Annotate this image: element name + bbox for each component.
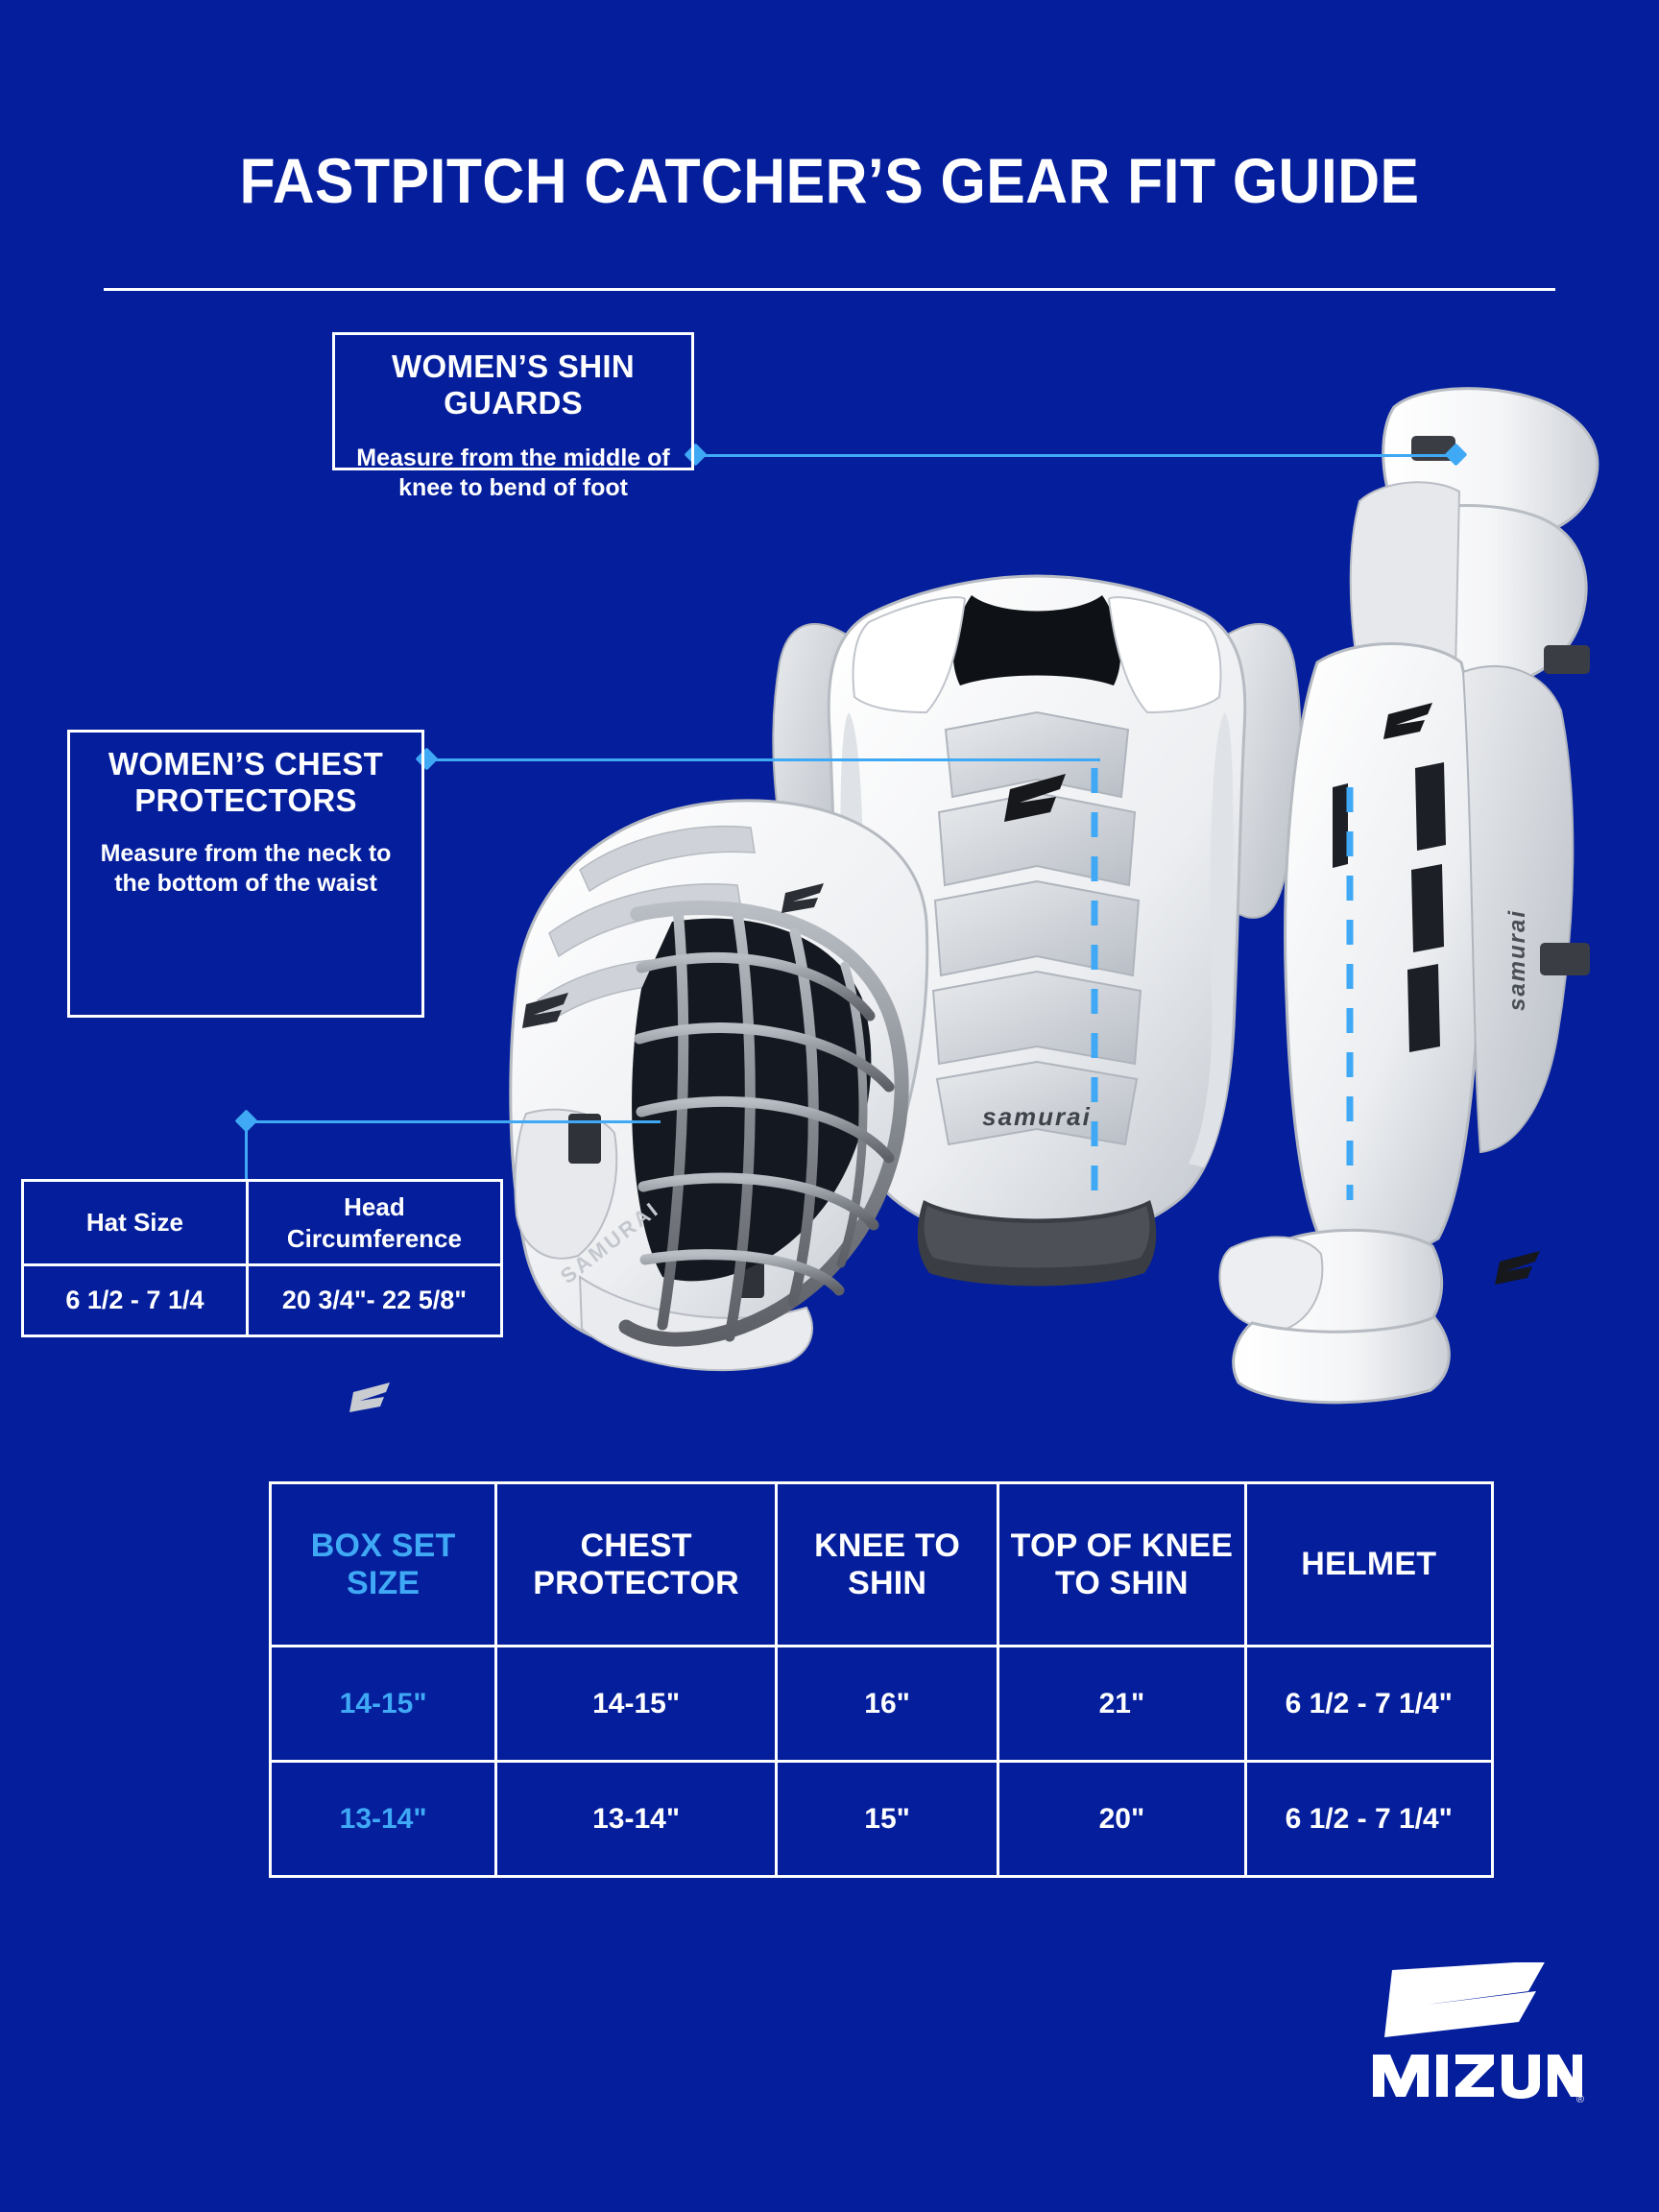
mizuno-runbird-foot xyxy=(1495,1251,1540,1285)
leg-guard-illustration: samurai xyxy=(1219,389,1597,1403)
mizuno-runbird-icon xyxy=(1384,1962,1546,2037)
cell-chest-protector: 13-14" xyxy=(496,1762,777,1877)
connector-line-chest xyxy=(428,758,1100,761)
hat-size-table: Hat Size Head Circumference 6 1/2 - 7 1/… xyxy=(21,1179,503,1337)
svg-text:samurai: samurai xyxy=(1504,909,1530,1011)
mizuno-runbird-legguard xyxy=(1383,703,1432,739)
mizuno-runbird-helmet xyxy=(522,993,568,1028)
col-header-helmet: HELMET xyxy=(1245,1483,1493,1647)
table-row-header: BOX SET SIZE CHEST PROTECTOR KNEE TO SHI… xyxy=(271,1483,1493,1647)
connector-dot-shin-end xyxy=(1444,443,1467,466)
cell-knee-to-shin: 15" xyxy=(776,1762,998,1877)
infographic-page: FASTPITCH CATCHER’S GEAR FIT GUIDE xyxy=(0,0,1659,2212)
cell-box-set-size: 13-14" xyxy=(271,1762,496,1877)
svg-text:SAMURAI: SAMURAI xyxy=(556,1196,664,1288)
title-divider xyxy=(104,288,1555,291)
chest-protector-illustration: samurai xyxy=(773,576,1300,1286)
col-header-chest-protector: CHEST PROTECTOR xyxy=(496,1483,777,1647)
svg-text:samurai: samurai xyxy=(982,1102,1092,1131)
hat-size-header: Hat Size xyxy=(23,1181,248,1265)
callout-womens-chest-protectors: WOMEN’S CHEST PROTECTORS Measure from th… xyxy=(67,730,424,1018)
mizuno-runbird-helmet-lower xyxy=(349,1382,390,1412)
head-circumference-header: Head Circumference xyxy=(247,1181,501,1265)
mizuno-wordmark xyxy=(1373,2055,1582,2099)
cell-chest-protector: 14-15" xyxy=(496,1647,777,1762)
callout-chest-title: WOMEN’S CHEST PROTECTORS xyxy=(85,746,406,820)
table-row-header: Hat Size Head Circumference xyxy=(23,1181,502,1265)
cell-helmet: 6 1/2 - 7 1/4" xyxy=(1245,1762,1493,1877)
callout-shin-body: Measure from the middle of knee to bend … xyxy=(350,444,676,504)
page-title: FASTPITCH CATCHER’S GEAR FIT GUIDE xyxy=(66,144,1593,217)
callout-womens-shin-guards: WOMEN’S SHIN GUARDS Measure from the mid… xyxy=(332,332,694,470)
mizuno-runbird-helmet-crown xyxy=(781,883,824,913)
connector-line-hat xyxy=(248,1120,661,1123)
col-header-knee-to-shin: KNEE TO SHIN xyxy=(776,1483,998,1647)
col-header-top-of-knee-to-shin: TOP OF KNEE TO SHIN xyxy=(998,1483,1245,1647)
callout-chest-body: Measure from the neck to the bottom of t… xyxy=(85,839,406,900)
cell-box-set-size: 14-15" xyxy=(271,1647,496,1762)
callout-shin-title: WOMEN’S SHIN GUARDS xyxy=(350,349,676,422)
mizuno-logo: ® xyxy=(1358,1962,1588,2106)
mizuno-runbird-chest xyxy=(1004,774,1066,822)
table-row: 6 1/2 - 7 1/4 20 3/4"- 22 5/8" xyxy=(23,1265,502,1336)
gear-illustration-group: samurai xyxy=(0,0,1659,2212)
col-header-box-set-size: BOX SET SIZE xyxy=(271,1483,496,1647)
cell-top-of-knee-to-shin: 20" xyxy=(998,1762,1245,1877)
connector-line-hat-vertical xyxy=(245,1120,248,1182)
registered-mark: ® xyxy=(1576,2094,1584,2105)
leg-guard-strap-lower xyxy=(1540,943,1590,975)
cell-helmet: 6 1/2 - 7 1/4" xyxy=(1245,1647,1493,1762)
hat-size-value: 6 1/2 - 7 1/4 xyxy=(23,1265,248,1336)
table-row: 13-14" 13-14" 15" 20" 6 1/2 - 7 1/4" xyxy=(271,1762,1493,1877)
connector-line-shin xyxy=(697,454,1455,457)
box-set-size-table: BOX SET SIZE CHEST PROTECTOR KNEE TO SHI… xyxy=(269,1481,1494,1878)
cell-top-of-knee-to-shin: 21" xyxy=(998,1647,1245,1762)
table-row: 14-15" 14-15" 16" 21" 6 1/2 - 7 1/4" xyxy=(271,1647,1493,1762)
cell-knee-to-shin: 16" xyxy=(776,1647,998,1762)
head-circumference-value: 20 3/4"- 22 5/8" xyxy=(247,1265,501,1336)
leg-guard-strap-upper xyxy=(1544,645,1590,674)
